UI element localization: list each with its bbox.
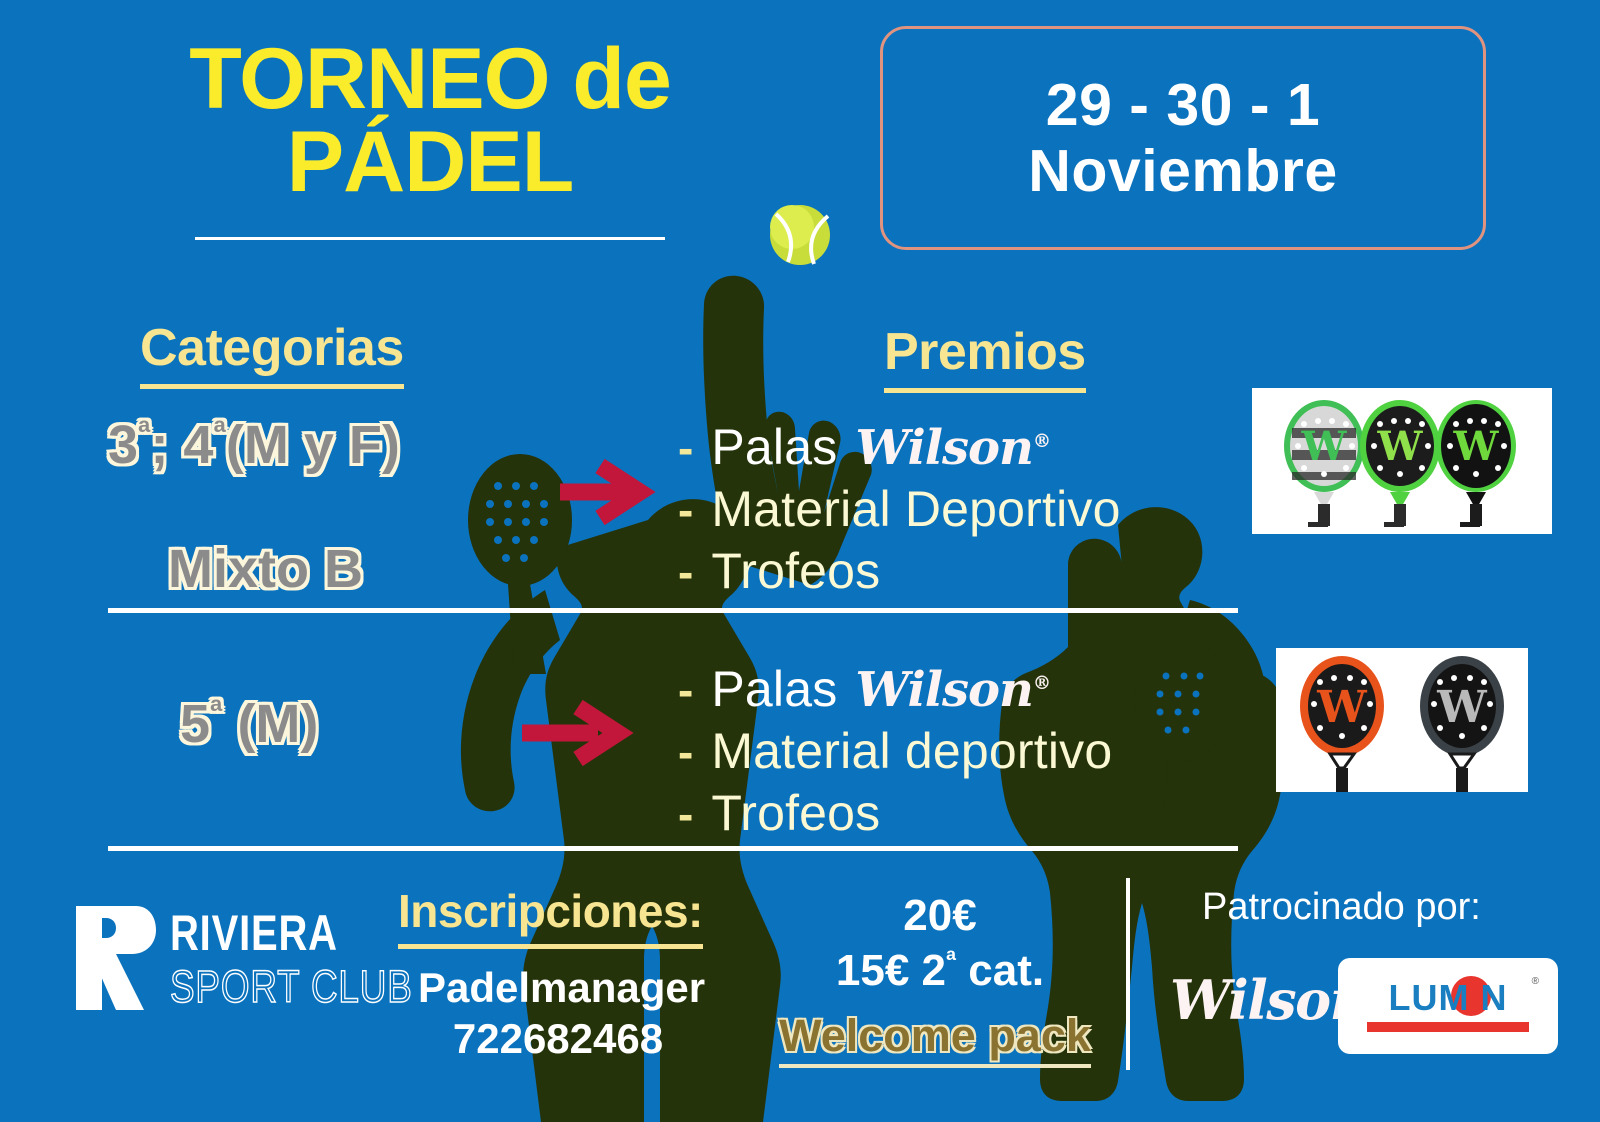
prize-text: Palas	[711, 660, 837, 718]
prize-row: - Trofeos	[678, 784, 1112, 842]
date-days: 29 - 30 - 1	[1046, 72, 1320, 138]
price-second: 15€ 2ª cat.	[780, 943, 1100, 998]
prizes-heading: Premios	[884, 322, 1086, 393]
registration-phone: 722682468	[418, 1013, 698, 1064]
racket-photo-top: W W W	[1252, 388, 1552, 534]
welcome-pack-badge: Welcome pack	[770, 1010, 1100, 1068]
prize-text: Material deportivo	[711, 722, 1112, 780]
riviera-name: RIVIERA	[170, 908, 407, 958]
prize-row: - Trofeos	[678, 542, 1121, 600]
prize-list-block-1: - Palas Wilson® - Material Deportivo - T…	[678, 418, 1121, 604]
racket-holes-right	[1157, 673, 1204, 734]
prize-text: Palas	[711, 418, 837, 476]
svg-text:W: W	[1377, 423, 1424, 470]
registration-details: Padelmanager 722682468	[418, 962, 698, 1064]
divider-vertical-sponsors	[1126, 878, 1130, 1070]
title-line-1: TORNEO de	[120, 38, 740, 121]
bullet-dash: -	[678, 487, 693, 533]
category-item-2: Mixto B	[168, 538, 363, 600]
silhouette-left-arm	[461, 590, 560, 811]
category-item-3: 5ª (M)	[180, 693, 318, 755]
prize-text: Trofeos	[711, 784, 880, 842]
divider-middle	[108, 608, 1238, 613]
racket-orange: W	[1300, 656, 1384, 792]
title-divider	[195, 237, 665, 240]
bullet-dash: -	[678, 425, 693, 471]
poster-title: TORNEO de PÁDEL	[120, 38, 740, 240]
racket-holes	[486, 482, 548, 562]
silhouette-right-racket	[1134, 638, 1230, 762]
tennis-ball-icon	[770, 205, 830, 265]
silhouette-right-arm	[1176, 600, 1266, 734]
riviera-subtitle: SPORT CLUB	[170, 964, 413, 1009]
wilson-logo-text: Wilson®	[855, 662, 1050, 718]
svg-text:W: W	[1301, 423, 1348, 470]
racket-photo-bottom: W W	[1276, 648, 1528, 792]
arrow-right-icon-top	[560, 466, 640, 518]
registration-platform: Padelmanager	[418, 962, 698, 1013]
svg-text:W: W	[1453, 423, 1500, 470]
title-line-2: PÁDEL	[120, 121, 740, 204]
lumon-sponsor-logo: LUM N ®	[1338, 958, 1558, 1054]
prize-row: - Palas Wilson®	[678, 660, 1112, 718]
bullet-dash: -	[678, 729, 693, 775]
wilson-logo-text: Wilson®	[855, 420, 1050, 476]
silhouette-left-racket-handle	[508, 584, 546, 674]
sponsors-heading: Patrocinado por:	[1202, 886, 1481, 929]
racket-green-1: W	[1284, 400, 1364, 527]
price-block: 20€ 15€ 2ª cat.	[780, 888, 1100, 998]
category-item-1: 3ª; 4ª(M y F)	[108, 414, 400, 476]
lumon-registered-mark: ®	[1532, 976, 1539, 987]
svg-text:W: W	[1316, 682, 1367, 733]
silhouette-left-racket	[468, 454, 572, 586]
arrow-right-icon-bottom	[522, 707, 618, 759]
prize-row: - Palas Wilson®	[678, 418, 1121, 476]
divider-bottom	[108, 846, 1238, 851]
bullet-dash: -	[678, 549, 693, 595]
riviera-r-mark-icon	[72, 900, 156, 1016]
registration-heading: Inscripciones:	[398, 884, 703, 949]
bullet-dash: -	[678, 791, 693, 837]
bullet-dash: -	[678, 667, 693, 713]
prize-list-block-2: - Palas Wilson® - Material deportivo - T…	[678, 660, 1112, 846]
price-main: 20€	[780, 888, 1100, 943]
svg-text:W: W	[1436, 682, 1487, 733]
padel-tournament-poster: TORNEO de PÁDEL 29 - 30 - 1 Noviembre Ca…	[0, 0, 1600, 1122]
silhouette-right-racket-handle	[1164, 758, 1188, 814]
date-box: 29 - 30 - 1 Noviembre	[880, 26, 1486, 250]
racket-green-3: W	[1436, 400, 1516, 527]
lumon-wordmark: LUM N	[1359, 980, 1537, 1016]
lumon-underline-bar	[1367, 1022, 1529, 1032]
prize-text: Material Deportivo	[711, 480, 1120, 538]
prize-row: - Material deportivo	[678, 722, 1112, 780]
racket-green-2: W	[1360, 400, 1440, 527]
categories-heading: Categorias	[140, 318, 404, 389]
racket-black: W	[1420, 656, 1504, 792]
date-month: Noviembre	[1028, 138, 1337, 204]
prize-text: Trofeos	[711, 542, 880, 600]
prize-row: - Material Deportivo	[678, 480, 1121, 538]
